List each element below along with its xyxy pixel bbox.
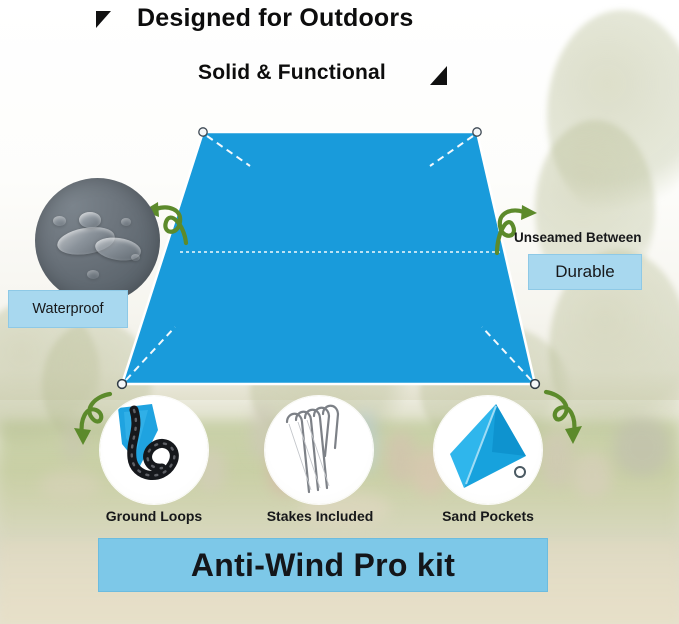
water-droplet [121,218,131,226]
person-silhouette [572,452,612,498]
metal-stakes-circle-icon [265,396,373,504]
sand-pocket-corner-circle-icon [434,396,542,504]
ground-loop-art [100,396,208,504]
water-droplet [87,270,99,279]
unseamed-note: Unseamed Between [514,230,642,245]
triangle-upper-left-icon [96,11,111,28]
caption-ground-loops: Ground Loops [88,508,220,524]
page-subtitle: Solid & Functional [198,61,386,85]
headline-sub-row: Solid & Functional [198,60,447,85]
water-droplet [131,254,140,261]
product-infographic: Designed for Outdoors Solid & Functional [0,0,679,624]
caption-sand-pockets: Sand Pockets [422,508,554,524]
stakes-art [265,396,373,504]
durable-label: Durable [528,254,642,290]
waterproof-label: Waterproof [8,290,128,328]
person-silhouette [540,430,574,488]
water-droplet [53,216,66,226]
vehicle-silhouette [614,418,670,476]
headline-main-row: Designed for Outdoors [96,4,413,33]
water-beading-circle-icon [35,178,160,303]
water-droplet [79,212,101,228]
person-silhouette [62,418,84,464]
ground-blur [40,470,100,500]
kit-banner: Anti-Wind Pro kit [98,538,548,592]
pocket-grommet [515,467,525,477]
triangle-lower-right-icon [430,66,447,85]
ground-loop-rope-circle-icon [100,396,208,504]
sand-pocket-art [434,396,542,504]
caption-stakes-included: Stakes Included [254,508,386,524]
page-title: Designed for Outdoors [137,4,413,33]
